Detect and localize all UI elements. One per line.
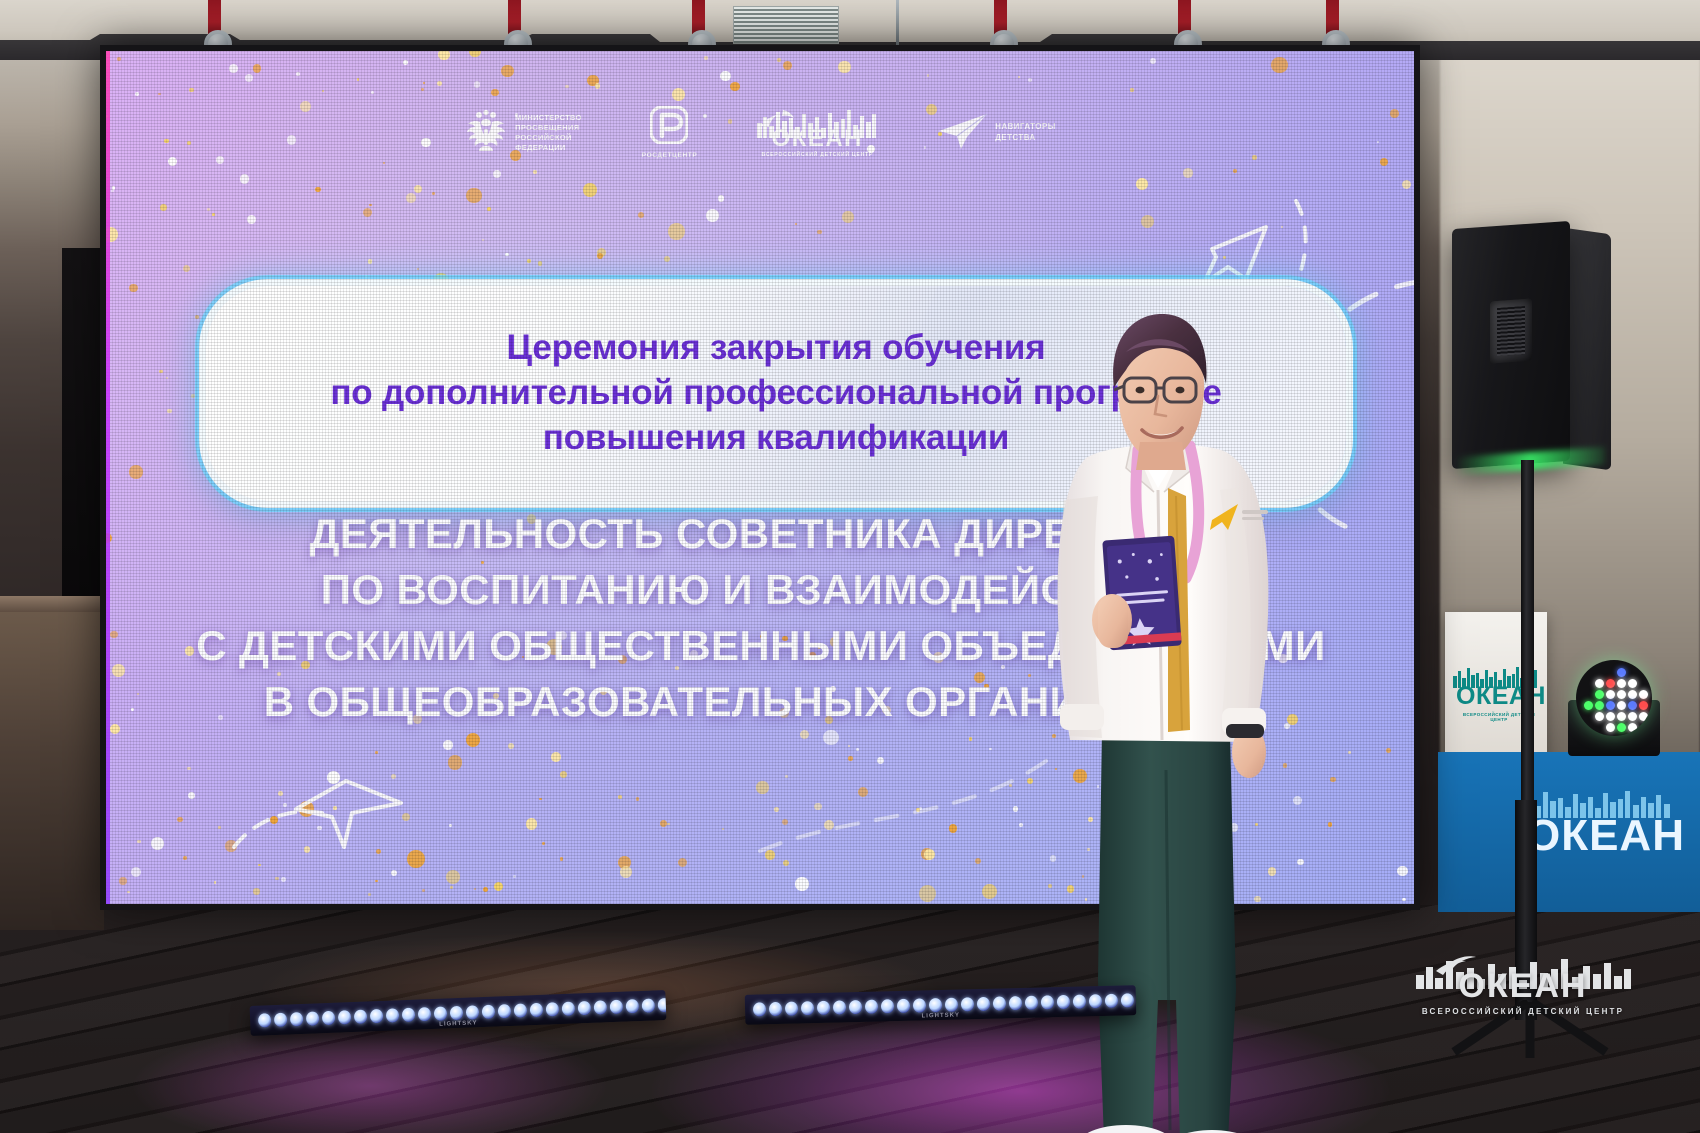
- led-bar-cell: [658, 998, 667, 1012]
- led-bar-cell: [881, 999, 894, 1013]
- par-led-dot: [1628, 701, 1637, 710]
- par-led-dot: [1617, 701, 1626, 710]
- logo-rosdetcentr-label: РОСДЕТЦЕНТР: [642, 152, 698, 161]
- watermark-okean-word: ОКЕАН: [1459, 969, 1588, 1003]
- led-bar-cell: [578, 1001, 592, 1015]
- led-bar-cell: [897, 999, 910, 1013]
- double-headed-eagle-emblem-icon: [464, 110, 508, 156]
- par-led-dot: [1628, 679, 1637, 688]
- watermark-caption: ВСЕРОССИЙСКИЙ ДЕТСКИЙ ЦЕНТР: [1422, 1007, 1624, 1016]
- led-bar-cell: [370, 1009, 384, 1023]
- led-bar-cell: [466, 1005, 480, 1019]
- led-bar-cell: [530, 1003, 544, 1017]
- par-led-dot: [1628, 690, 1637, 699]
- blue-panel-okean-word: ОКЕАН: [1526, 814, 1685, 858]
- right-hand: [1226, 724, 1266, 778]
- led-bar-cell: [514, 1003, 528, 1017]
- par-led-dot: [1606, 690, 1615, 699]
- card-title-line-1: Церемония закрытия обучения: [507, 327, 1046, 370]
- par-led-dot: [1606, 723, 1615, 732]
- led-bar-cell: [498, 1004, 512, 1018]
- par-led-dot: [1639, 690, 1648, 699]
- led-bar-cell: [322, 1011, 336, 1025]
- par-led-dot: [1595, 679, 1604, 688]
- led-bar-cell: [402, 1008, 416, 1022]
- okean-blue-panel: ОКЕАН: [1438, 752, 1700, 912]
- screen-edge-highlight: [106, 51, 110, 904]
- logo-navigatory-label: НАВИГАТОРЫ ДЕТСТВА: [995, 122, 1056, 144]
- led-bar-cell: [1105, 994, 1118, 1008]
- partner-logo-row: МИНИСТЕРСТВО ПРОСВЕЩЕНИЯ РОССИЙСКОЙ ФЕДЕ…: [106, 99, 1414, 167]
- led-bar-cell: [977, 997, 990, 1011]
- led-bar-cell: [338, 1010, 352, 1024]
- par-led-dot: [1584, 701, 1593, 710]
- led-bar-cell: [753, 1002, 766, 1016]
- par-led-dot: [1639, 712, 1648, 721]
- led-bar-cell: [833, 1000, 846, 1014]
- par-led-dot: [1639, 701, 1648, 710]
- led-bar-cell: [785, 1001, 798, 1015]
- led-bar-cell: [801, 1001, 814, 1015]
- wristwatch: [1226, 724, 1264, 738]
- par-led-dot: [1606, 679, 1615, 688]
- led-bar-cell: [594, 1000, 608, 1014]
- led-bar-cell: [354, 1009, 368, 1023]
- led-bar-cell: [386, 1008, 400, 1022]
- logo-okean: ОКЕАН ВСЕРОССИЙСКИЙ ДЕТСКИЙ ЦЕНТР: [757, 108, 877, 158]
- par-led-dot: [1617, 712, 1626, 721]
- logo-ministry-of-education: МИНИСТЕРСТВО ПРОСВЕЩЕНИЯ РОССИЙСКОЙ ФЕДЕ…: [464, 110, 582, 156]
- par-led-dot: [1617, 668, 1626, 677]
- par-led-dot: [1617, 690, 1626, 699]
- par-led-dot: [1628, 723, 1637, 732]
- led-bar-cell: [546, 1002, 560, 1016]
- par-led-dot: [1595, 690, 1604, 699]
- led-bar-cell: [1041, 995, 1054, 1009]
- event-photo-canvas: ОКЕАН ВСЕРОССИЙСКИЙ ДЕТСКИЙ ЦЕНТР: [0, 0, 1700, 1133]
- led-bar-cell: [418, 1007, 432, 1021]
- led-bar-cell: [1073, 994, 1086, 1008]
- logo-navigatory-detstva: НАВИГАТОРЫ ДЕТСТВА: [937, 111, 1056, 156]
- led-bar-cell: [769, 1002, 782, 1016]
- pa-speaker-side: [1563, 228, 1611, 471]
- paper-plane-doodle-icon: [226, 751, 426, 871]
- led-bar-cell: [993, 996, 1006, 1010]
- okean-watermark: ОКЕАН ВСЕРОССИЙСКИЙ ДЕТСКИЙ ЦЕНТР: [1398, 955, 1648, 1055]
- rosdetcentr-r-icon: [650, 106, 688, 149]
- logo-okean-word: ОКЕАН: [772, 127, 864, 151]
- led-bar-cell: [1089, 994, 1102, 1008]
- ceiling-vent-icon: [733, 6, 839, 44]
- par-led-dot: [1595, 712, 1604, 721]
- wooden-cabinet-top: [0, 596, 112, 612]
- led-bar-cell: [1121, 993, 1134, 1007]
- card-title-line-3: повышения квалификации: [543, 417, 1009, 460]
- led-bar-cell: [865, 1000, 878, 1014]
- paper-plane-icon: [937, 111, 989, 156]
- led-bar-cell: [817, 1001, 830, 1015]
- led-bar-cell: [961, 997, 974, 1011]
- led-bar-cell: [450, 1006, 464, 1020]
- led-par-light: [1576, 660, 1652, 736]
- led-bar-cell: [913, 998, 926, 1012]
- led-bar-cell: [849, 1000, 862, 1014]
- speaker-stand: [1521, 460, 1534, 820]
- wooden-cabinet: [0, 600, 104, 930]
- led-bar-cell: [562, 1002, 576, 1016]
- par-led-dot: [1617, 723, 1626, 732]
- par-led-dot: [1617, 679, 1626, 688]
- led-bar-cell: [274, 1013, 288, 1027]
- led-bar-cell: [482, 1005, 496, 1019]
- par-led-dot: [1606, 712, 1615, 721]
- led-bar-cell: [306, 1011, 320, 1025]
- led-bar-cell: [1025, 996, 1038, 1010]
- led-bar-cell: [945, 998, 958, 1012]
- trousers: [1098, 730, 1236, 1133]
- rigging-rod: [896, 0, 899, 48]
- led-bar-cell: [434, 1006, 448, 1020]
- logo-okean-caption: ВСЕРОССИЙСКИЙ ДЕТСКИЙ ЦЕНТР: [761, 152, 873, 158]
- logo-rosdetcentr: РОСДЕТЦЕНТР: [642, 106, 698, 161]
- par-led-dot: [1606, 701, 1615, 710]
- par-led-dot: [1595, 701, 1604, 710]
- led-bar-cell: [1057, 995, 1070, 1009]
- led-bar-cell: [1009, 996, 1022, 1010]
- led-bar-cell: [290, 1012, 304, 1026]
- logo-ministry-label: МИНИСТЕРСТВО ПРОСВЕЩЕНИЯ РОССИЙСКОЙ ФЕДЕ…: [515, 113, 582, 153]
- par-led-dot: [1628, 712, 1637, 721]
- led-bar-cell: [929, 998, 942, 1012]
- led-bar-cell: [626, 999, 640, 1013]
- pa-speaker-horn: [1490, 299, 1532, 364]
- led-bar-cell: [610, 1000, 624, 1014]
- led-bar-cell: [642, 998, 656, 1012]
- led-bar-cell: [258, 1013, 272, 1027]
